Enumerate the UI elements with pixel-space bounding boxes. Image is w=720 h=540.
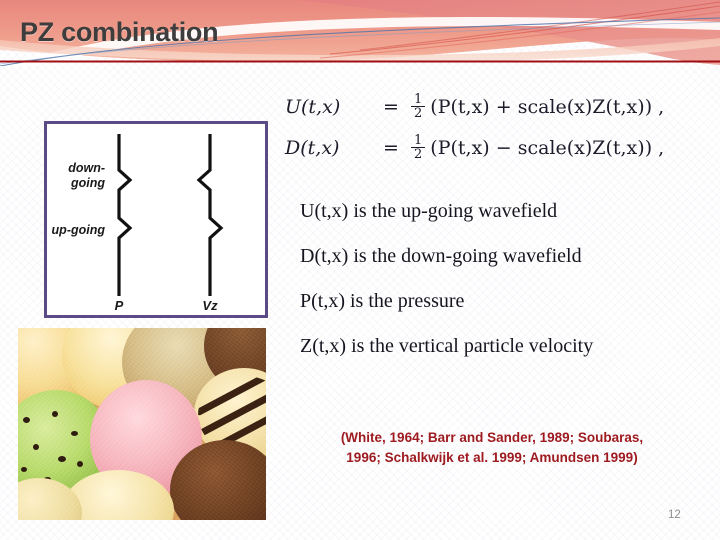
slide-canvas: PZ combination down- going up-going P Vz: [0, 0, 720, 540]
fraction-one-half: 1 2: [411, 134, 425, 162]
banner-rule: [0, 61, 720, 63]
equation-relation: =: [371, 137, 411, 159]
trace-vz-path: [199, 134, 221, 296]
label-trace-vz: Vz: [202, 298, 218, 313]
equation-block: U(t,x) = 1 2 (P(t,x) + scale(x)Z(t,x)) ,…: [285, 86, 705, 168]
definition-list: U(t,x) is the up-going wavefield D(t,x) …: [300, 200, 710, 380]
slide-number: 12: [668, 509, 681, 521]
citation-block: (White, 1964; Barr and Sander, 1989; Sou…: [278, 428, 706, 467]
equation-rhs-wrap: 1 2 (P(t,x) + scale(x)Z(t,x)) ,: [411, 93, 664, 121]
equation-lhs: D(t,x): [285, 137, 371, 159]
citation-line-2: 1996; Schalkwijk et al. 1999; Amundsen 1…: [278, 448, 706, 468]
label-downgoing-line2: going: [70, 176, 105, 190]
equation-lhs: U(t,x): [285, 96, 371, 118]
fraction-denominator: 2: [411, 106, 425, 120]
definition-item: U(t,x) is the up-going wavefield: [300, 200, 710, 223]
definition-item: P(t,x) is the pressure: [300, 290, 710, 313]
definition-item: Z(t,x) is the vertical particle velocity: [300, 335, 710, 358]
fraction-numerator: 1: [411, 93, 425, 106]
citation-line-1: (White, 1964; Barr and Sander, 1989; Sou…: [278, 428, 706, 448]
equation-rhs-wrap: 1 2 (P(t,x) − scale(x)Z(t,x)) ,: [411, 134, 664, 162]
equation-row: U(t,x) = 1 2 (P(t,x) + scale(x)Z(t,x)) ,: [285, 86, 705, 127]
equation-relation: =: [371, 96, 411, 118]
equation-rhs: (P(t,x) + scale(x)Z(t,x)) ,: [430, 96, 664, 118]
ice-cream-photo: [18, 328, 266, 520]
equation-row: D(t,x) = 1 2 (P(t,x) − scale(x)Z(t,x)) ,: [285, 127, 705, 168]
definition-item: D(t,x) is the down-going wavefield: [300, 245, 710, 268]
page-title: PZ combination: [20, 17, 218, 48]
fraction-denominator: 2: [411, 147, 425, 161]
label-trace-p: P: [115, 298, 124, 313]
fraction-one-half: 1 2: [411, 93, 425, 121]
label-upgoing: up-going: [52, 223, 106, 237]
label-downgoing-line1: down-: [68, 161, 105, 175]
equation-rhs: (P(t,x) − scale(x)Z(t,x)) ,: [430, 137, 664, 159]
pz-wavefield-diagram: down- going up-going P Vz: [44, 121, 268, 318]
fraction-numerator: 1: [411, 134, 425, 147]
slide-banner: PZ combination: [0, 0, 720, 66]
trace-p-path: [119, 134, 130, 296]
